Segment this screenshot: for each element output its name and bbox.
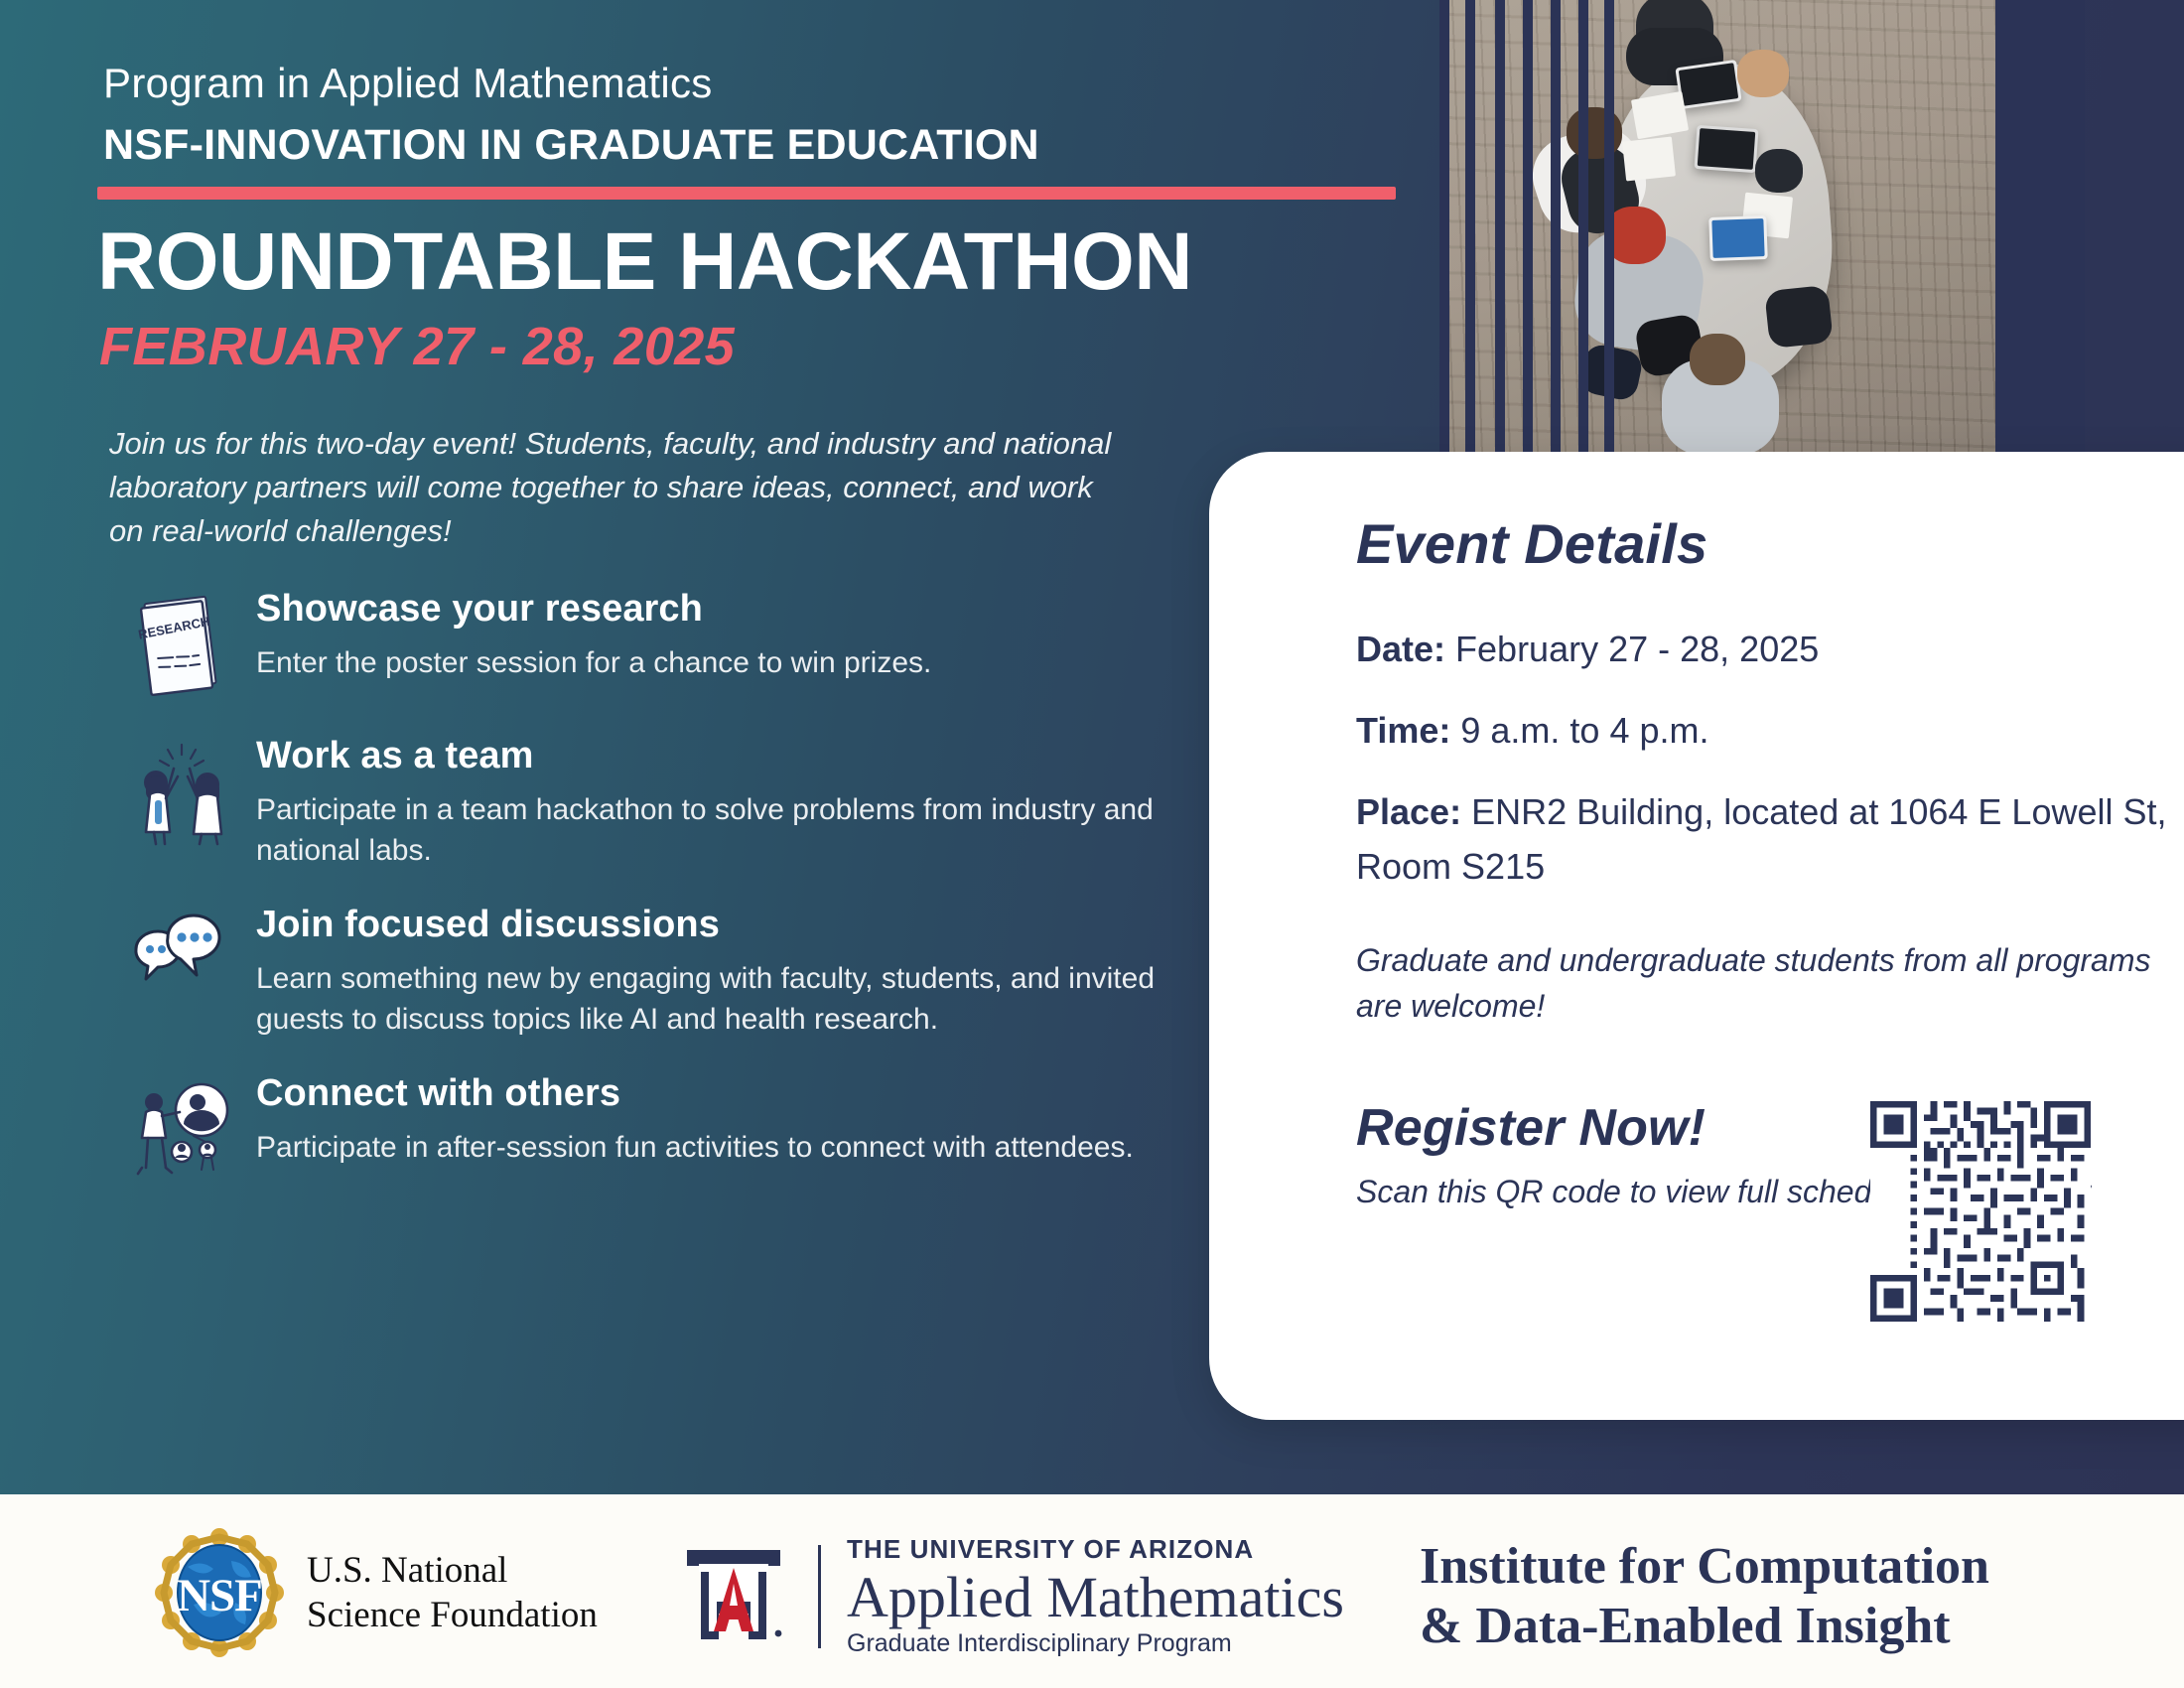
event-details-title: Event Details [1356, 511, 2172, 576]
program-subhead: NSF-INNOVATION IN GRADUATE EDUCATION [103, 121, 1039, 170]
event-place-label: Place: [1356, 791, 1461, 832]
people-connect-icon [107, 1070, 256, 1188]
nsf-line2: Science Foundation [307, 1593, 598, 1637]
hero-photo [1439, 0, 2085, 455]
arizona-a-icon [675, 1538, 792, 1655]
feature-heading: Connect with others [256, 1072, 1179, 1115]
event-time-row: Time: 9 a.m. to 4 p.m. [1356, 703, 2172, 759]
photo-laptop [1675, 60, 1741, 109]
photo-person [1737, 50, 1789, 97]
arizona-logo: THE UNIVERSITY OF ARIZONA Applied Mathem… [675, 1534, 1344, 1658]
event-date-row: Date: February 27 - 28, 2025 [1356, 622, 2172, 677]
list-item: Work as a team Participate in a team hac… [107, 733, 1179, 872]
intro-paragraph: Join us for this two-day event! Students… [109, 422, 1112, 553]
event-place-row: Place: ENR2 Building, located at 1064 E … [1356, 784, 2172, 896]
photo-person [1690, 334, 1745, 385]
qr-code[interactable] [1870, 1096, 2091, 1327]
feature-body: Enter the poster session for a chance to… [256, 642, 1179, 683]
research-poster-icon: RESEARCH [107, 586, 256, 703]
event-time-label: Time: [1356, 710, 1450, 751]
nsf-wordmark: U.S. National Science Foundation [307, 1548, 598, 1637]
arizona-line1: THE UNIVERSITY OF ARIZONA [847, 1534, 1344, 1565]
nsf-logo: NSF U.S. National Science Foundation [154, 1527, 598, 1658]
list-item: Join focused discussions Learn something… [107, 902, 1179, 1041]
event-date-value: February 27 - 28, 2025 [1445, 629, 1819, 669]
speech-bubbles-icon [107, 902, 256, 1019]
photo-person [1755, 149, 1803, 193]
event-time-value: 9 a.m. to 4 p.m. [1450, 710, 1708, 751]
feature-heading: Join focused discussions [256, 904, 1179, 946]
program-kicker: Program in Applied Mathematics [103, 60, 713, 107]
photo-railing-bars [1439, 0, 1622, 455]
photo-laptop [1695, 125, 1759, 173]
feature-heading: Showcase your research [256, 588, 1179, 631]
feature-list: RESEARCH Showcase your research Enter th… [107, 586, 1179, 1217]
page-title: ROUNDTABLE HACKATHON [97, 220, 1192, 304]
svg-text:NSF: NSF [177, 1570, 262, 1621]
feature-heading: Work as a team [256, 735, 1179, 777]
feature-body: Learn something new by engaging with fac… [256, 958, 1179, 1041]
feature-body: Participate in after-session fun activit… [256, 1127, 1179, 1168]
high-five-team-icon [107, 733, 256, 850]
nsf-line1: U.S. National [307, 1548, 598, 1593]
arizona-wordmark: THE UNIVERSITY OF ARIZONA Applied Mathem… [847, 1534, 1344, 1658]
nsf-seal-icon: NSF [154, 1527, 285, 1658]
event-dates: FEBRUARY 27 - 28, 2025 [99, 316, 735, 377]
feature-body: Participate in a team hackathon to solve… [256, 789, 1179, 872]
icdi-line1: Institute for Computation [1420, 1537, 1989, 1597]
arizona-line2: Applied Mathematics [847, 1567, 1344, 1627]
list-item: Connect with others Participate in after… [107, 1070, 1179, 1188]
photo-paper [1622, 136, 1676, 181]
event-date-label: Date: [1356, 629, 1445, 669]
logo-divider [818, 1545, 821, 1648]
event-place-value: ENR2 Building, located at 1064 E Lowell … [1356, 791, 2167, 888]
photo-backpack [1764, 285, 1834, 349]
icdi-logo: Institute for Computation & Data-Enabled… [1420, 1537, 1989, 1657]
icdi-line2: & Data-Enabled Insight [1420, 1597, 1989, 1656]
eligibility-note: Graduate and undergraduate students from… [1356, 938, 2172, 1029]
accent-rule [97, 187, 1396, 200]
event-poster: Program in Applied Mathematics NSF-INNOV… [0, 0, 2184, 1688]
list-item: RESEARCH Showcase your research Enter th… [107, 586, 1179, 703]
photo-laptop [1708, 215, 1768, 261]
arizona-line3: Graduate Interdisciplinary Program [847, 1629, 1344, 1658]
photo-right-edge [1995, 0, 2085, 455]
